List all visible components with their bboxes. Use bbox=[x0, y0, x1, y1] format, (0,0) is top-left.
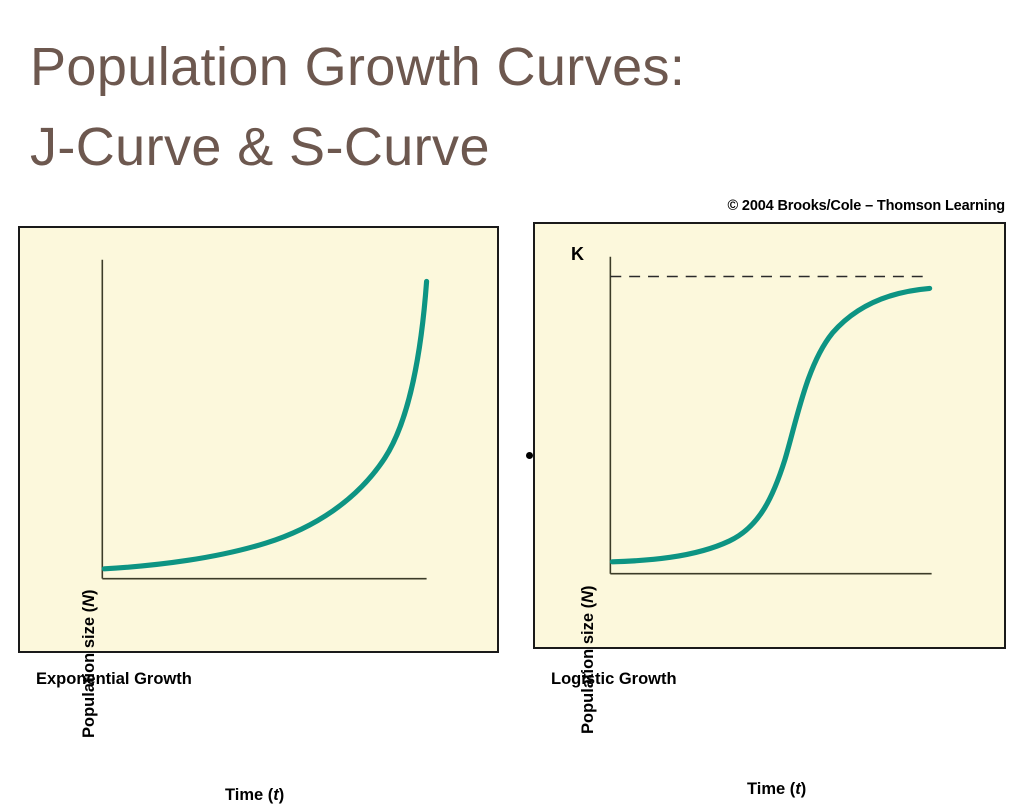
y-axis-label-close: ) bbox=[579, 585, 597, 591]
page-title: Population Growth Curves: J-Curve & S-Cu… bbox=[30, 28, 930, 188]
y-axis-label-exponential: Population size (N) bbox=[80, 589, 99, 738]
caption-exponential-growth: Exponential Growth bbox=[36, 670, 192, 689]
bullet-dot-icon bbox=[526, 452, 533, 459]
logistic-growth-chart bbox=[535, 224, 1004, 647]
caption-logistic-growth: Logistic Growth bbox=[551, 670, 677, 689]
figure-panel-logistic: K Population size (N) Time (t) bbox=[533, 222, 1006, 649]
x-axis-label-logistic: Time (t) bbox=[747, 780, 806, 799]
y-axis-label-close: ) bbox=[80, 589, 98, 595]
figure-panel-exponential: Population size (N) Time (t) bbox=[18, 226, 499, 653]
y-axis-label-logistic: Population size (N) bbox=[579, 585, 598, 734]
exponential-curve-line bbox=[104, 281, 426, 568]
y-axis-label-variable: N bbox=[579, 591, 597, 603]
copyright-notice: © 2004 Brooks/Cole – Thomson Learning bbox=[728, 198, 1005, 214]
exponential-growth-chart bbox=[20, 228, 497, 651]
x-axis-label-exponential: Time (t) bbox=[225, 786, 284, 805]
x-axis-label-close: ) bbox=[801, 780, 807, 798]
logistic-curve-line bbox=[612, 288, 929, 561]
y-axis-label-variable: N bbox=[80, 595, 98, 607]
carrying-capacity-label: K bbox=[571, 244, 584, 265]
x-axis-label-text: Time ( bbox=[747, 780, 795, 798]
x-axis-label-text: Time ( bbox=[225, 786, 273, 804]
x-axis-label-close: ) bbox=[279, 786, 285, 804]
y-axis-label-text: Population size ( bbox=[579, 603, 597, 734]
